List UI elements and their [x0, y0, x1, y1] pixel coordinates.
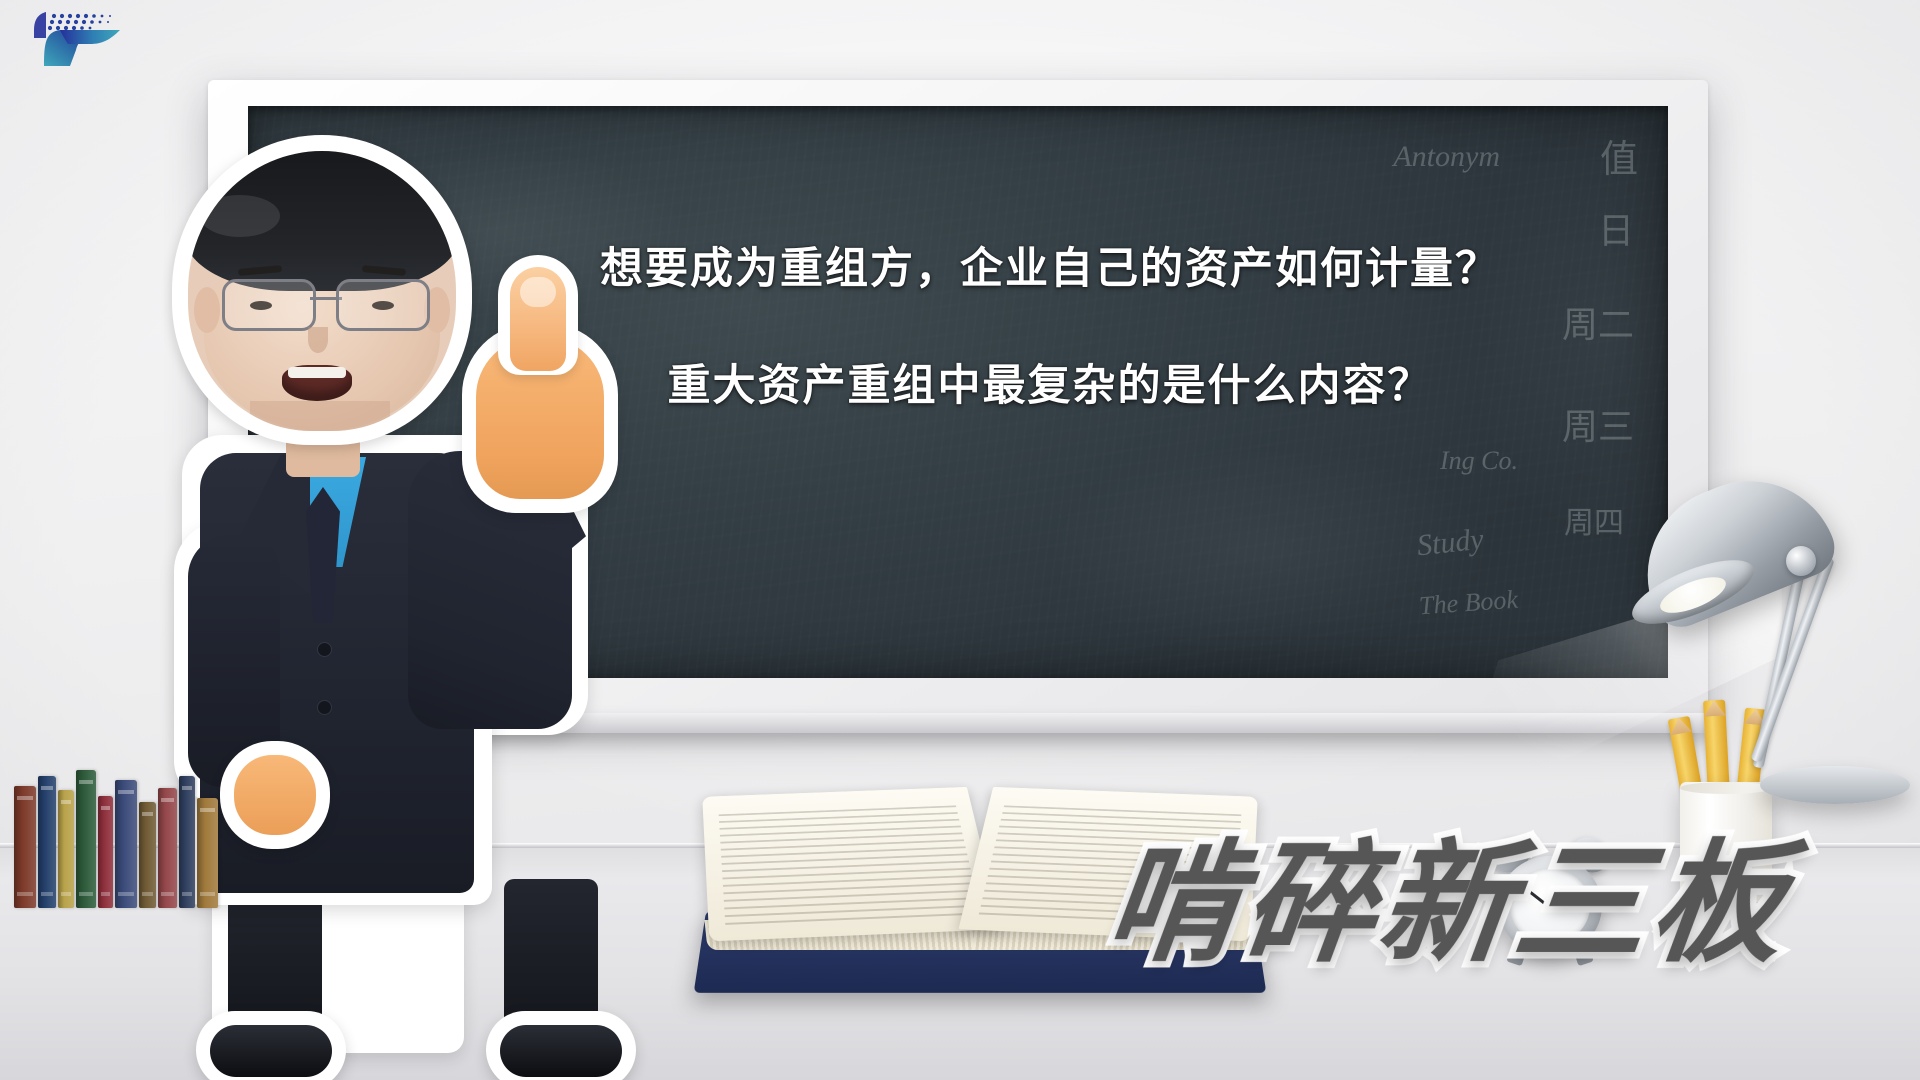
show-title: 啃碎新三板	[1100, 838, 1796, 970]
brand-logo-icon[interactable]	[24, 8, 134, 70]
book-spine	[58, 790, 74, 908]
lens-left	[222, 279, 316, 331]
book-spine	[197, 798, 218, 908]
book-spine	[38, 776, 56, 908]
book-stack	[14, 744, 244, 908]
eyeglasses-icon	[222, 279, 430, 327]
book-spine	[14, 786, 36, 908]
lens-right	[336, 279, 430, 331]
ear-left	[194, 287, 220, 333]
shoe-left	[210, 1025, 332, 1077]
fingernail	[520, 277, 556, 307]
book-spine	[179, 776, 195, 908]
leg-right	[504, 879, 598, 1031]
jacket-button	[318, 643, 331, 656]
book-spine	[158, 788, 177, 908]
book-spine	[139, 802, 156, 908]
chin	[250, 401, 390, 431]
jacket-button	[318, 701, 331, 714]
left-hand	[234, 755, 316, 835]
lamp-joint	[1786, 546, 1816, 576]
presenter-character	[178, 135, 648, 1070]
book-page-left	[702, 787, 1001, 941]
nose	[308, 327, 328, 353]
page-text-lines	[719, 805, 982, 926]
hair	[188, 151, 456, 291]
book-spine	[98, 796, 113, 908]
head	[188, 151, 456, 431]
book-spine	[115, 780, 137, 908]
video-frame: Antonym 值 日 周二 周三 周四 Ing Co. Study The B…	[0, 0, 1920, 1080]
lamp-base	[1760, 766, 1910, 804]
mouth	[282, 365, 352, 401]
shoe-right	[500, 1025, 622, 1077]
book-spine	[76, 770, 96, 908]
